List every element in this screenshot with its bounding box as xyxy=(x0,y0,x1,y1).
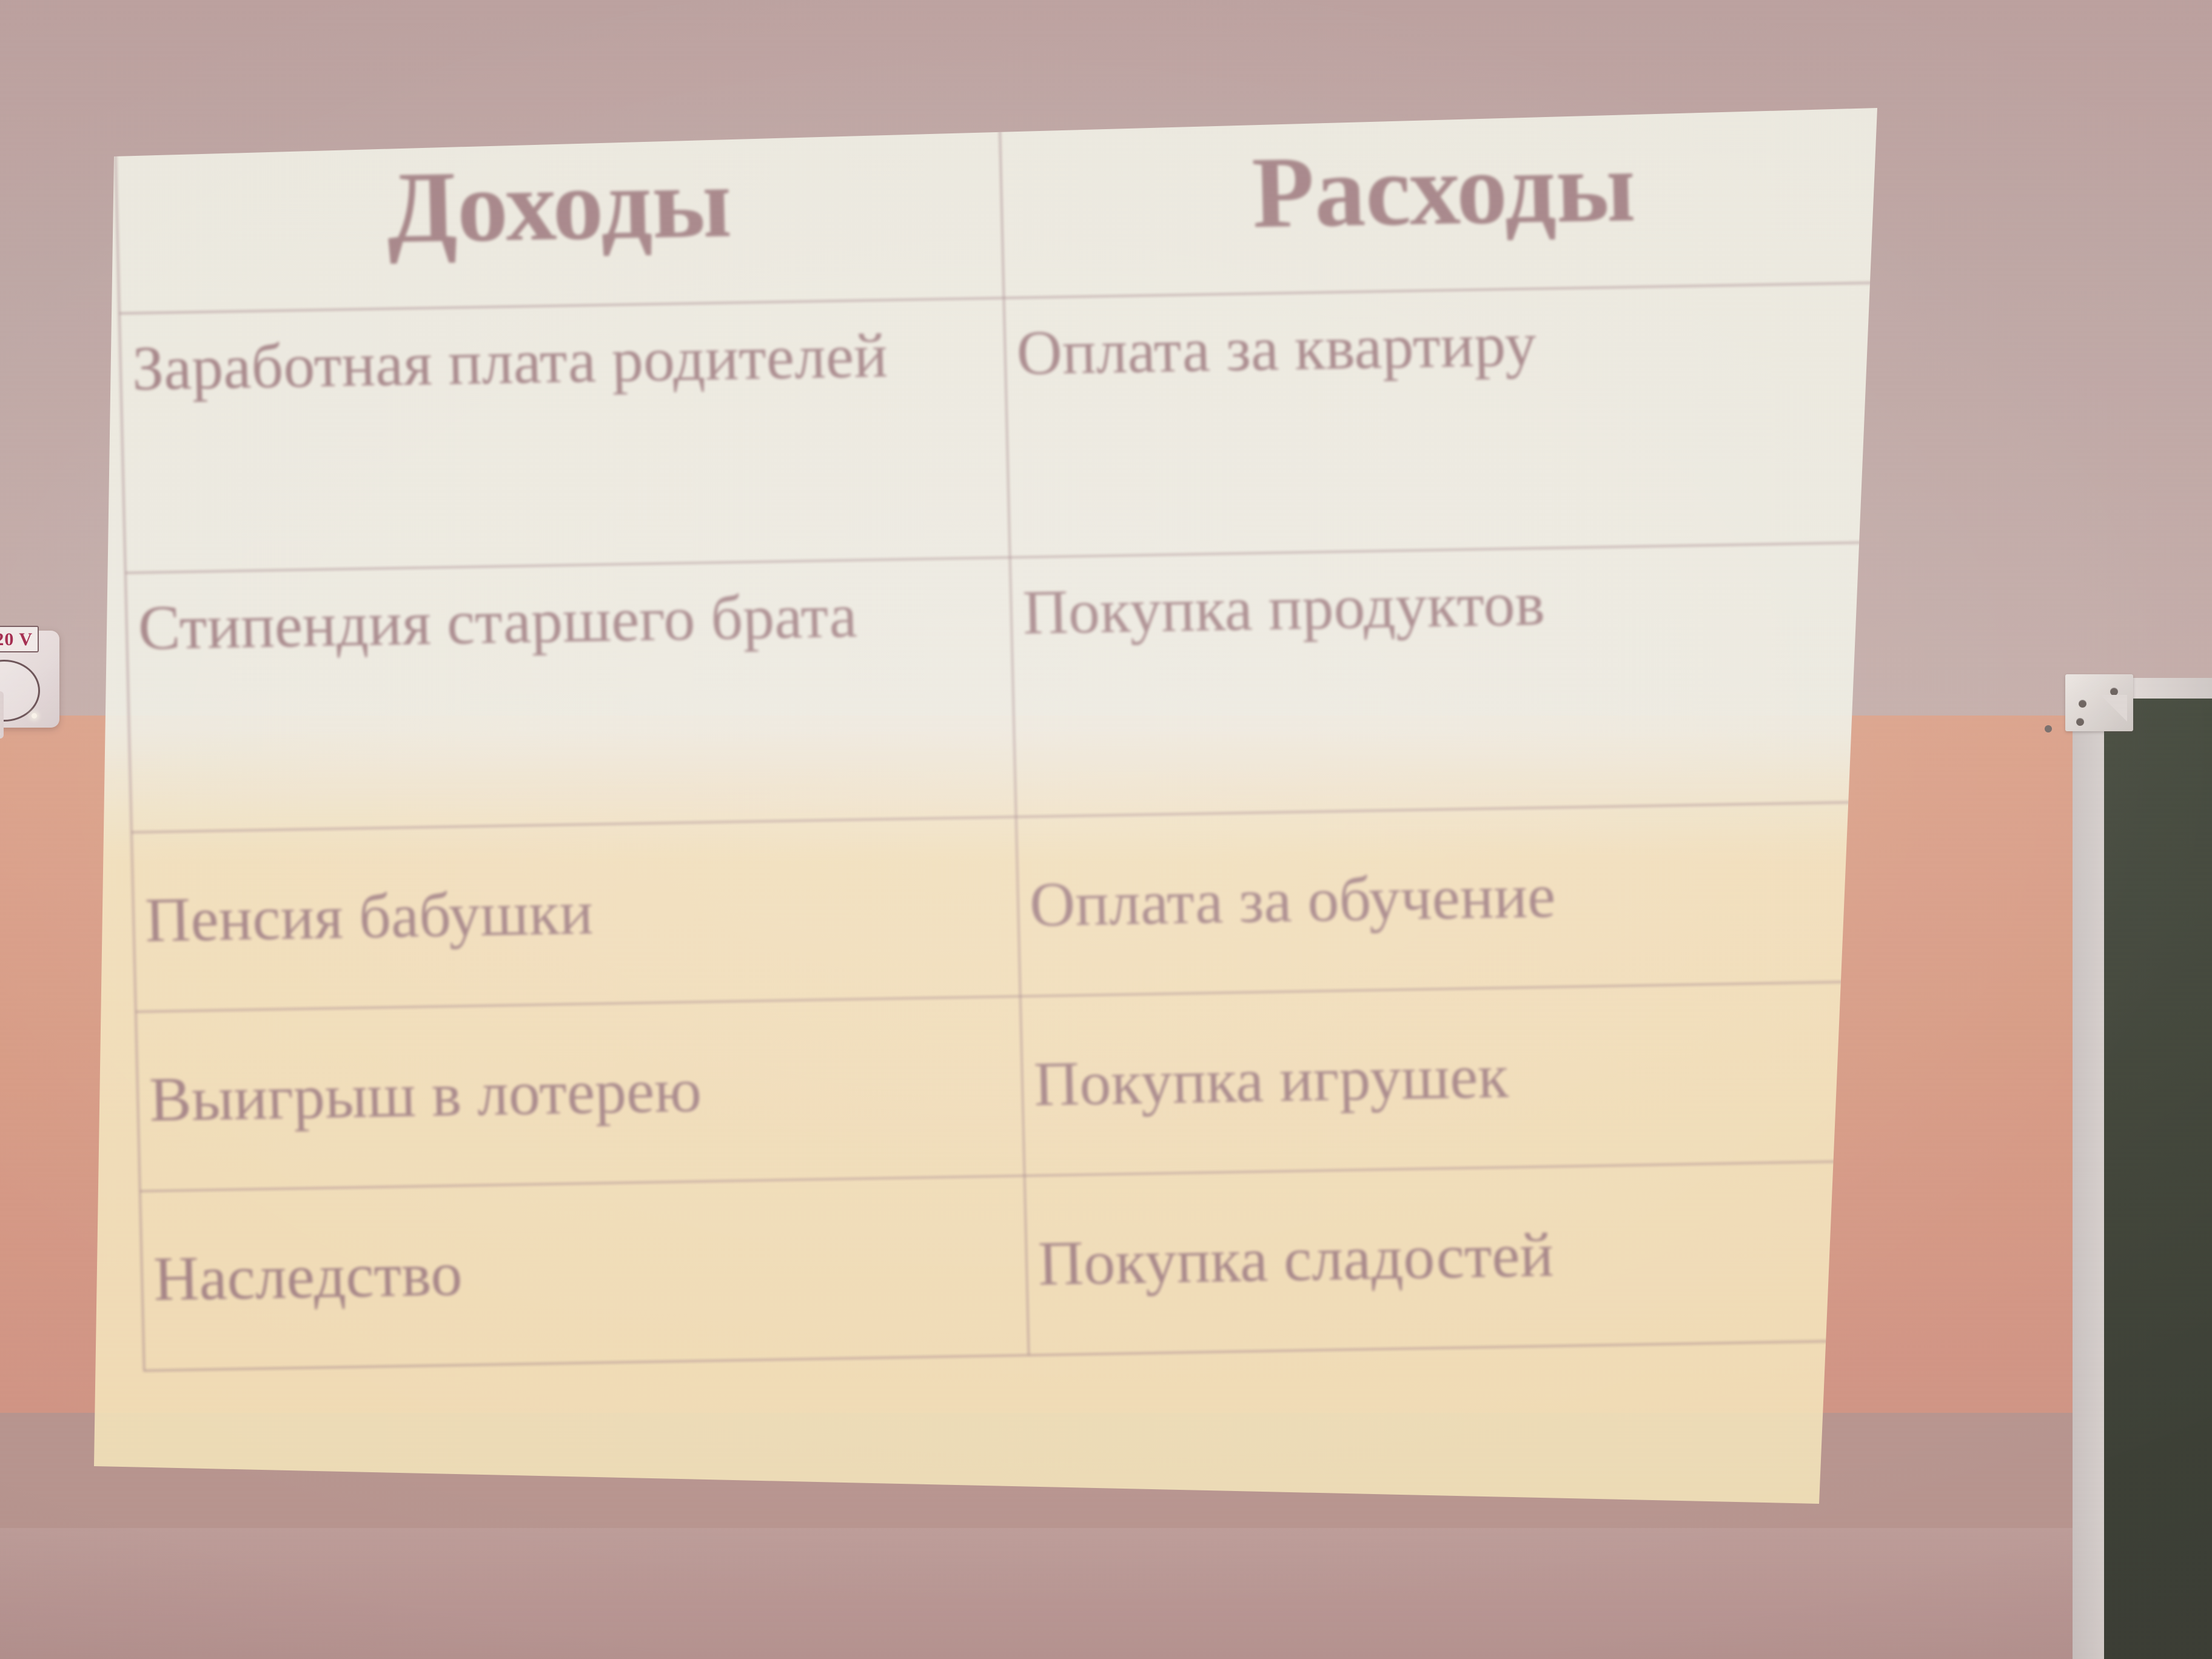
table-row: Стипендия старшего брата Покупка продукт… xyxy=(126,542,1901,833)
plugged-in-plug xyxy=(0,691,4,739)
cell-income-4: Выигрыш в лотерею xyxy=(136,996,1025,1191)
table-row: Заработная плата родителей Оплата за ква… xyxy=(119,283,1895,573)
cell-expense-2: Покупка продуктов xyxy=(1010,542,1901,817)
bracket-screw xyxy=(2079,700,2086,708)
voltage-label: 20 V xyxy=(0,626,39,652)
wall-baseboard-shade xyxy=(0,1528,2212,1659)
cell-income-5: Наследство xyxy=(140,1176,1029,1370)
classroom-photo-scene: Доходы Расходы Заработная плата родителе… xyxy=(0,0,2212,1659)
cell-expense-1: Оплата за квартиру xyxy=(1004,283,1895,557)
cell-income-1: Заработная плата родителей xyxy=(119,298,1010,572)
chalkboard-surface xyxy=(2104,699,2212,1659)
cell-expense-4: Покупка игрушек xyxy=(1021,981,1909,1176)
cell-expense-5: Покупка сладостей xyxy=(1025,1161,1914,1355)
table-row: Наследство Покупка сладостей xyxy=(140,1161,1914,1371)
slide-table-wrapper: Доходы Расходы Заработная плата родителе… xyxy=(114,84,1917,1509)
income-expense-table: Доходы Расходы Заработная плата родителе… xyxy=(114,84,1914,1371)
table-row: Выигрыш в лотерею Покупка игрушек xyxy=(136,981,1909,1191)
cell-income-2: Стипендия старшего брата xyxy=(126,557,1016,832)
chalkboard-corner-chamfer xyxy=(2100,695,2127,722)
cell-expense-3: Оплата за обучение xyxy=(1016,802,1905,996)
cell-income-3: Пенсия бабушки xyxy=(132,817,1021,1011)
bracket-screw xyxy=(2076,718,2084,726)
table-row: Пенсия бабушки Оплата за обучение xyxy=(132,802,1905,1012)
outlet-highlight-glint xyxy=(32,713,37,719)
wall-nail xyxy=(2045,725,2052,732)
